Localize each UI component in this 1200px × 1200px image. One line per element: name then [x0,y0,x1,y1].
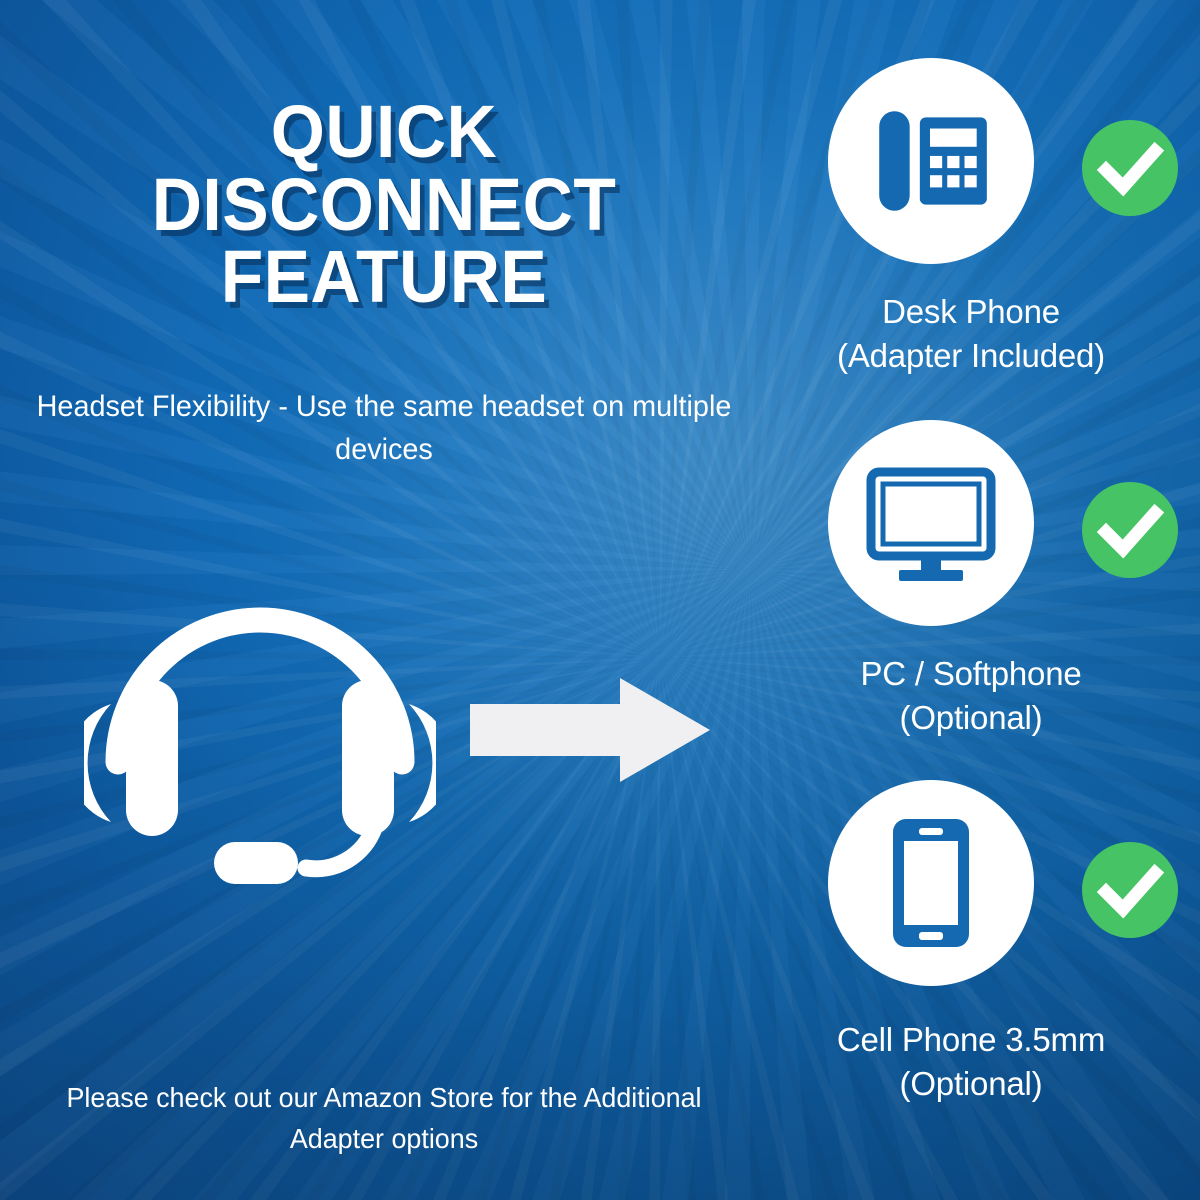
green-check-icon [1082,120,1178,216]
product-feature-poster: QUICK DISCONNECT FEATURE Headset Flexibi… [0,0,1200,1200]
subtitle-text: Headset Flexibility - Use the same heads… [36,386,731,471]
device-label: Cell Phone 3.5mm (Optional) [734,1018,1200,1106]
device-label: PC / Softphone (Optional) [734,652,1200,740]
green-check-icon [1082,482,1178,578]
monitor-icon [828,420,1034,626]
footnote-text: Please check out our Amazon Store for th… [36,1078,731,1159]
cell-phone-icon [828,780,1034,986]
device-label: Desk Phone (Adapter Included) [734,290,1200,378]
right-arrow-icon [470,678,710,782]
desk-phone-icon [828,58,1034,264]
page-title: QUICK DISCONNECT FEATURE [55,96,713,314]
green-check-icon [1082,842,1178,938]
headset-icon [84,556,436,886]
